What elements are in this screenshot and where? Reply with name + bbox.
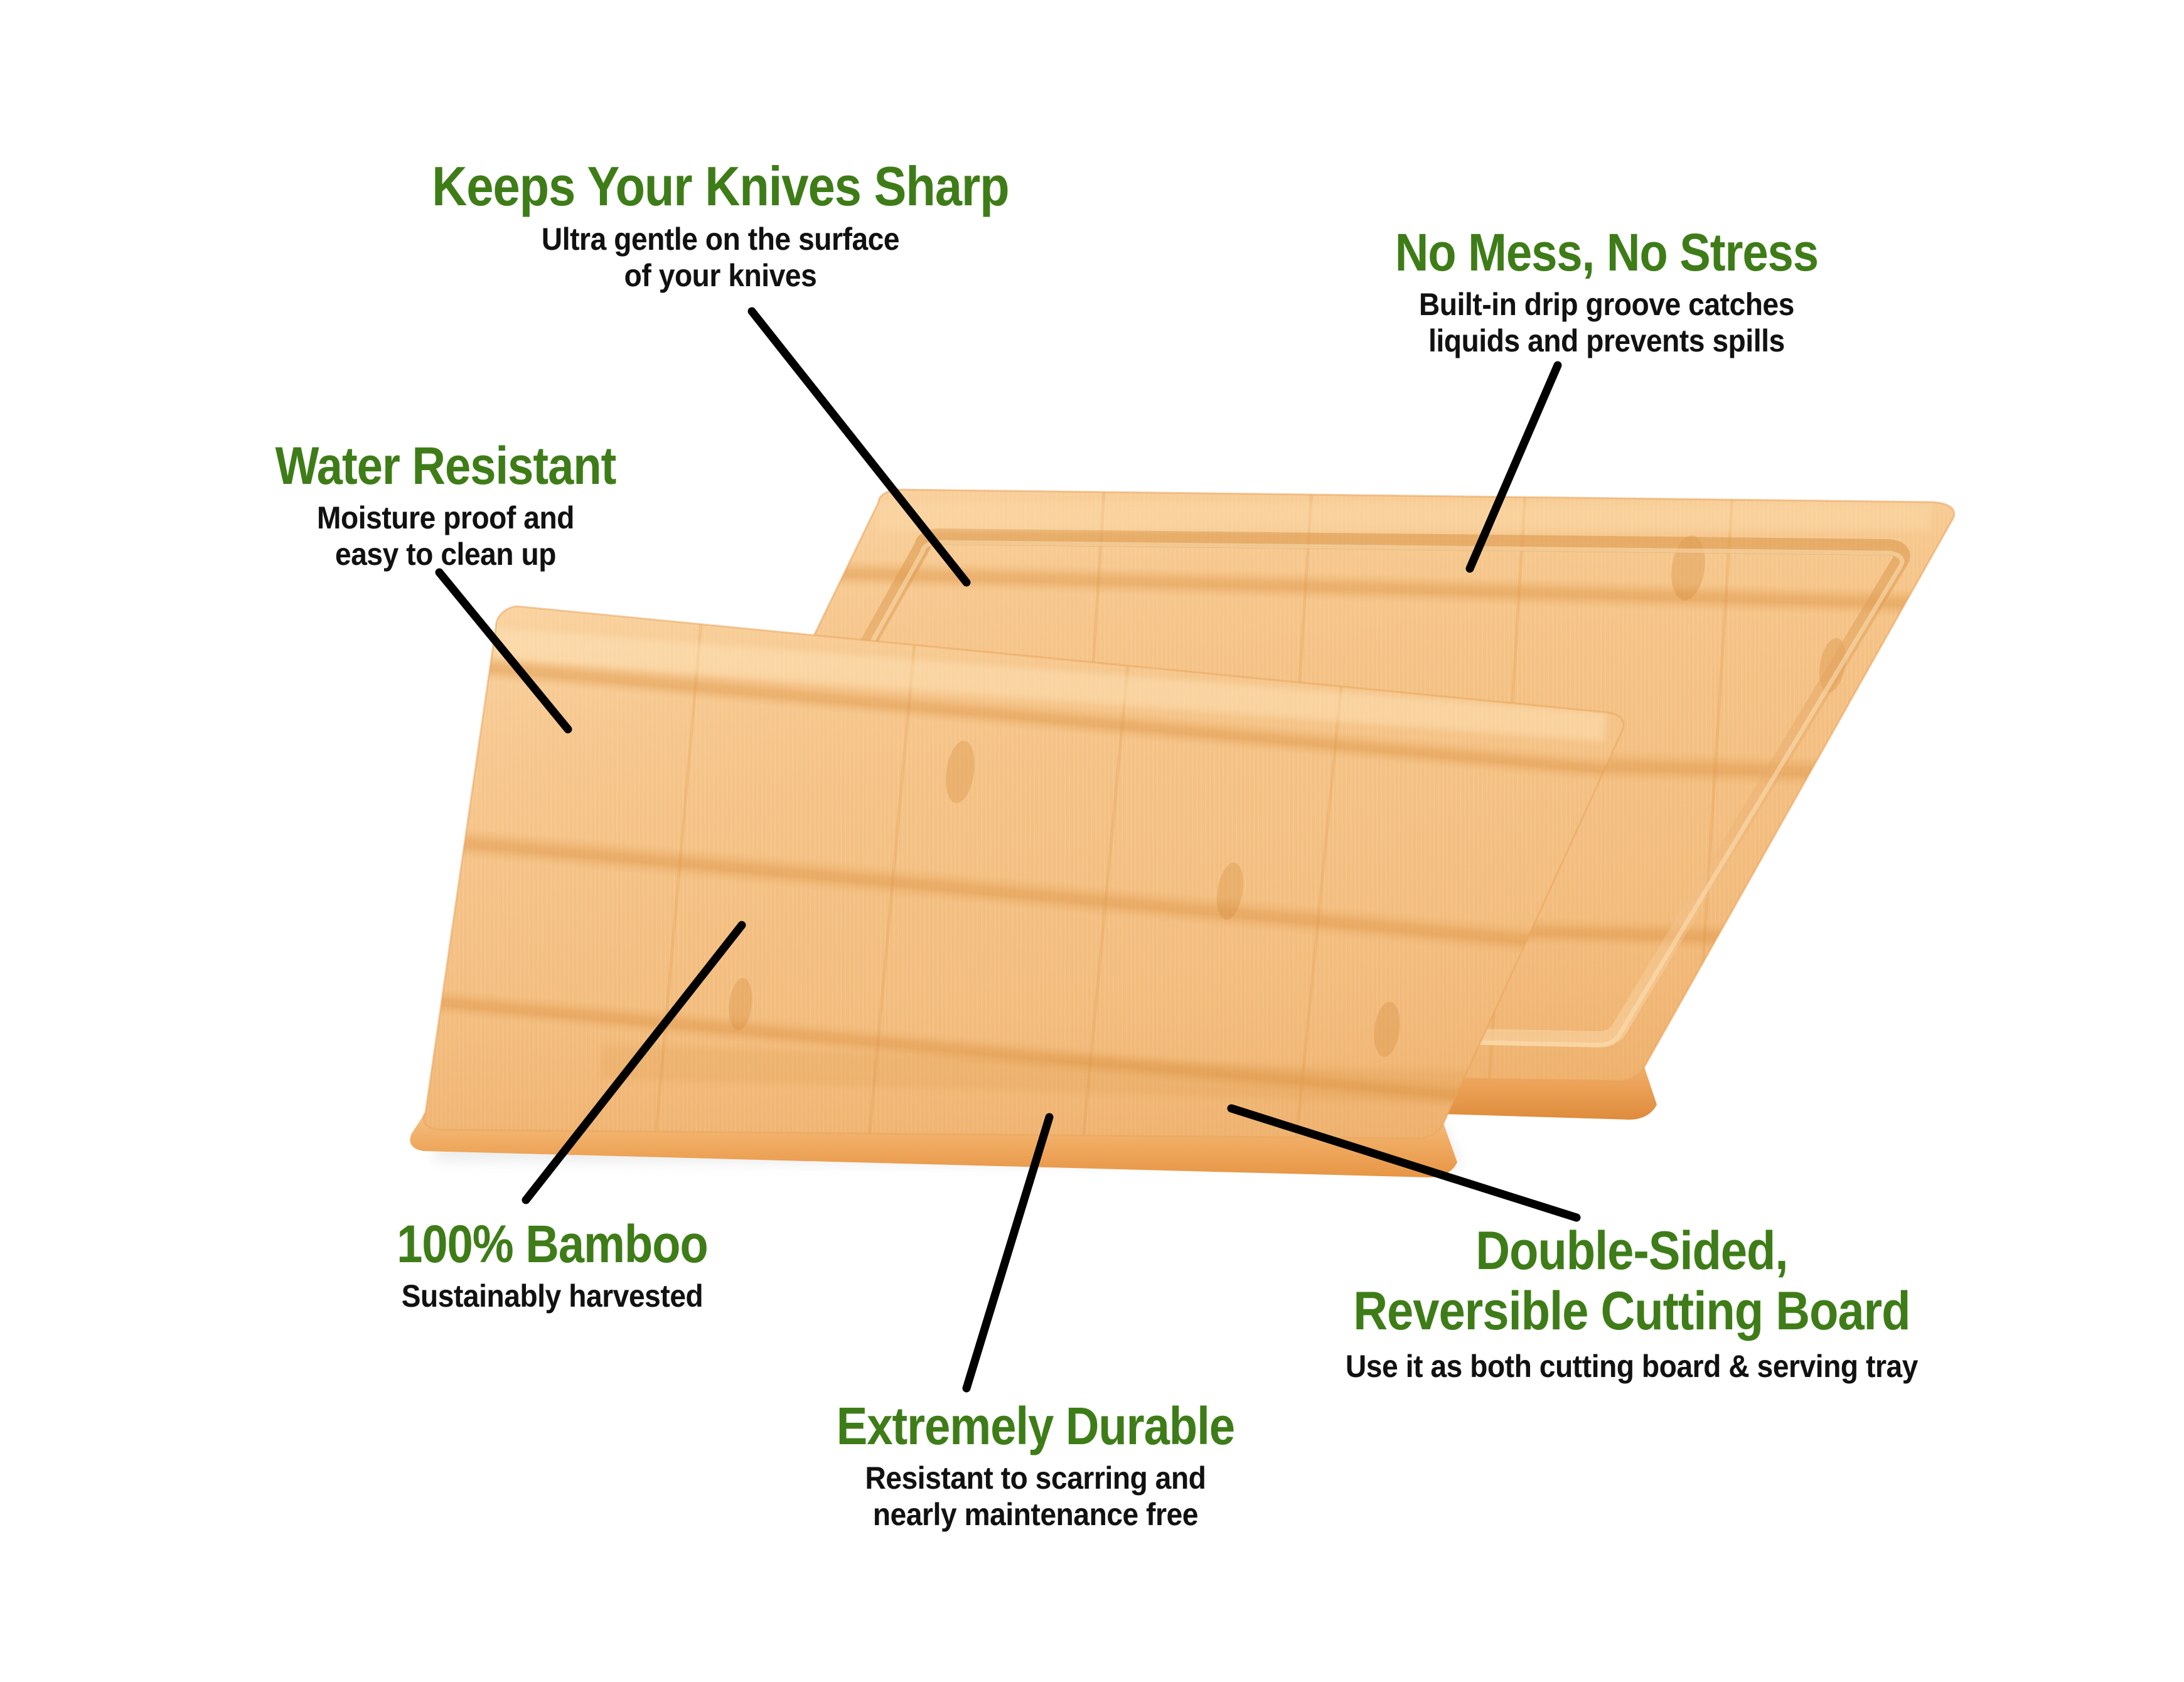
callout-no-mess-no-stress: No Mess, No Stress Built-in drip groove … (1274, 226, 1939, 359)
callout-subtext: Sustainably harvested (333, 1278, 771, 1314)
callout-100-percent-bamboo: 100% Bamboo Sustainably harvested (314, 1218, 791, 1314)
callout-headline: No Mess, No Stress (1314, 226, 1900, 280)
callout-subtext: Ultra gentle on the surface of your kniv… (374, 221, 1067, 294)
callout-headline: 100% Bamboo (343, 1218, 763, 1272)
callout-subtext-line: easy to clean up (209, 536, 682, 572)
callout-water-resistant: Water Resistant Moisture proof and easy … (188, 439, 703, 572)
callout-headline-line: Reversible Cutting Board (1278, 1281, 1985, 1341)
callout-subtext-line: Built-in drip groove catches (1300, 286, 1912, 323)
callout-subtext-line: liquids and prevents spills (1300, 323, 1912, 359)
callout-subtext-line: Moisture proof and (209, 500, 682, 536)
callout-subtext-line: Resistant to scarring and (747, 1460, 1324, 1496)
callout-subtext-line: Sustainably harvested (333, 1278, 771, 1314)
callout-headline: Keeps Your Knives Sharp (389, 158, 1052, 215)
callout-keeps-knives-sharp: Keeps Your Knives Sharp Ultra gentle on … (344, 158, 1097, 294)
callout-headline: Extremely Durable (759, 1400, 1312, 1454)
callout-headline-line: Double-Sided, (1278, 1221, 1985, 1281)
callout-headline: Water Resistant (219, 439, 672, 493)
callout-subtext-line: Ultra gentle on the surface (374, 221, 1067, 257)
callout-subtext-line: of your knives (374, 257, 1067, 294)
callout-subtext-line: Use it as both cutting board & serving t… (1262, 1348, 2001, 1385)
callout-extremely-durable: Extremely Durable Resistant to scarring … (722, 1400, 1349, 1533)
infographic-canvas: Keeps Your Knives Sharp Ultra gentle on … (0, 0, 2184, 1682)
callout-subtext: Moisture proof and easy to clean up (209, 500, 682, 572)
callout-subtext: Built-in drip groove catches liquids and… (1300, 286, 1912, 359)
callout-double-sided-reversible: Double-Sided, Reversible Cutting Board U… (1230, 1221, 2033, 1385)
callout-subtext: Use it as both cutting board & serving t… (1262, 1348, 2001, 1385)
callout-subtext: Resistant to scarring and nearly mainten… (747, 1460, 1324, 1533)
callout-subtext-line: nearly maintenance free (747, 1496, 1324, 1533)
